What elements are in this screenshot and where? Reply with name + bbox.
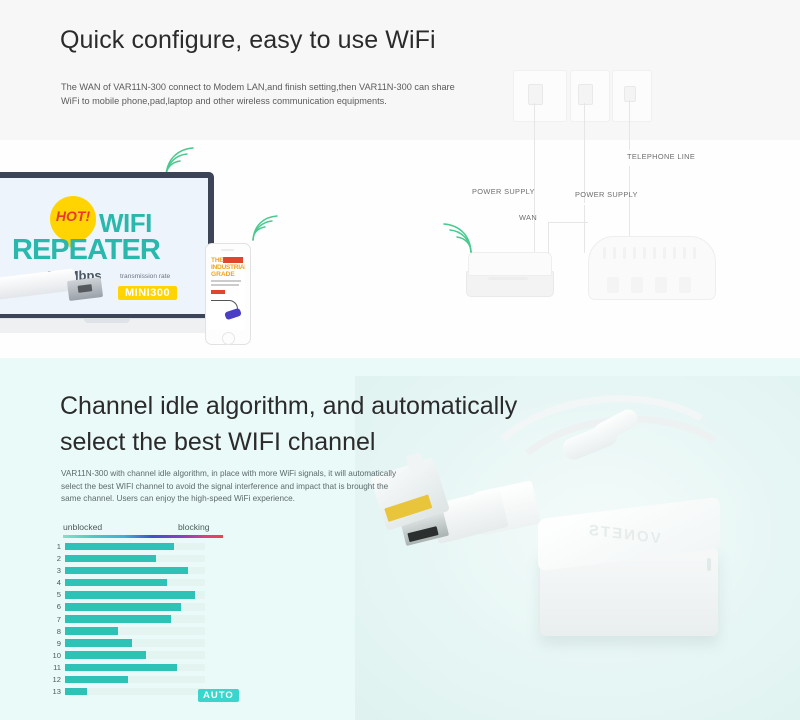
hot-badge-label: HOT! — [50, 208, 96, 224]
wire-power-2b — [584, 205, 585, 253]
telephone-jack-icon — [624, 86, 636, 102]
chart-bar — [65, 627, 118, 635]
chart-rows: 12345678910111213 — [48, 541, 260, 698]
power-socket-icon-2 — [578, 84, 593, 105]
smartphone-illustration: THE INDUSTRIAL GRADE — [205, 243, 251, 345]
chart-bar — [65, 591, 195, 599]
chart-row: 6 — [48, 601, 260, 613]
chart-row: 5 — [48, 589, 260, 601]
repeater-label-strip — [488, 277, 528, 280]
laptop-illustration: HOT! WIFI REPEATER 300Mbps transmission … — [0, 172, 220, 340]
laptop-base-notch — [84, 319, 130, 323]
wire-power-2 — [584, 103, 585, 203]
phone-ad-text-line-2 — [211, 284, 239, 286]
chart-bar — [65, 676, 128, 684]
wifi-signal-icon-phone — [248, 214, 278, 242]
chart-bar — [65, 579, 167, 587]
chart-bar-track — [65, 664, 205, 672]
chart-bar-track — [65, 579, 205, 587]
wire-telephone-b — [629, 166, 630, 244]
label-wan: WAN — [519, 213, 537, 222]
phone-ad-badge — [211, 290, 225, 294]
chart-channel-number: 4 — [48, 578, 61, 587]
section-channel-algorithm: VONETS Channel idle algorithm, and autom… — [0, 358, 800, 720]
chart-row: 4 — [48, 577, 260, 589]
chart-channel-number: 12 — [48, 675, 61, 684]
usb-dongle-body — [0, 268, 77, 302]
chart-bar-track — [65, 555, 205, 563]
section2-title: Channel idle algorithm, and automaticall… — [60, 388, 580, 460]
chart-channel-number: 1 — [48, 542, 61, 551]
chart-bar — [65, 639, 132, 647]
section1-title: Quick configure, easy to use WiFi — [60, 26, 436, 55]
chart-channel-number: 7 — [48, 615, 61, 624]
wire-telephone — [629, 100, 630, 150]
power-socket-icon — [528, 84, 543, 105]
chart-row: 3 — [48, 565, 260, 577]
chart-bar-track — [65, 639, 205, 647]
chart-bar-track — [65, 676, 205, 684]
chart-row: 12 — [48, 674, 260, 686]
chart-bar-track — [65, 651, 205, 659]
auto-channel-badge: AUTO — [198, 689, 239, 702]
laptop-screen: HOT! WIFI REPEATER 300Mbps transmission … — [0, 178, 208, 314]
chart-bar-track — [65, 567, 205, 575]
chart-row: 8 — [48, 626, 260, 638]
chart-legend-unblocked: unblocked — [63, 522, 102, 532]
chart-bar — [65, 543, 174, 551]
chart-channel-number: 8 — [48, 627, 61, 636]
chart-bar — [65, 555, 156, 563]
phone-ad-text-line-1 — [211, 280, 241, 282]
chart-row: 2 — [48, 553, 260, 565]
wire-wan-drop — [548, 222, 549, 254]
phone-ad-line1: THE — [211, 257, 224, 264]
phone-home-button — [222, 332, 235, 345]
router-led-indicator — [707, 558, 711, 571]
phone-ad-line3: GRADE — [211, 271, 235, 278]
chart-gradient-scale — [63, 535, 223, 538]
section1-body-text: The WAN of VAR11N-300 connect to Modem L… — [61, 80, 461, 108]
chart-bar — [65, 567, 188, 575]
usb-dongle-connector — [67, 277, 103, 301]
chart-row: 10 — [48, 650, 260, 662]
chart-bar-track — [65, 627, 205, 635]
section1-top-band — [0, 0, 800, 140]
chart-channel-number: 6 — [48, 602, 61, 611]
product-marketing-page: Quick configure, easy to use WiFi The WA… — [0, 0, 800, 720]
ad-model-badge: MINI300 — [118, 286, 177, 300]
ad-repeater-text: REPEATER — [12, 234, 160, 267]
chart-bar-track — [65, 603, 205, 611]
label-power-supply-1: POWER SUPPLY — [472, 187, 535, 196]
chart-bar — [65, 651, 146, 659]
phone-speaker — [221, 249, 234, 251]
modem-illustration — [588, 236, 716, 300]
channel-usage-chart: unblocked blocking 12345678910111213 AUT… — [48, 522, 260, 712]
section-quick-configure: Quick configure, easy to use WiFi The WA… — [0, 0, 800, 358]
chart-channel-number: 13 — [48, 687, 61, 696]
chart-bar-track — [65, 543, 205, 551]
section2-body-text: VAR11N-300 with channel idle algorithm, … — [61, 468, 401, 506]
label-telephone-line: TELEPHONE LINE — [627, 152, 695, 161]
phone-screen: THE INDUSTRIAL GRADE — [209, 254, 245, 330]
repeater-top — [468, 252, 552, 276]
phone-ad-line2: INDUSTRIAL — [211, 264, 245, 271]
chart-bar — [65, 615, 171, 623]
chart-channel-number: 2 — [48, 554, 61, 563]
chart-bar — [65, 688, 87, 696]
chart-bar — [65, 603, 181, 611]
chart-row: 11 — [48, 662, 260, 674]
chart-bar-track — [65, 688, 205, 696]
chart-channel-number: 10 — [48, 651, 61, 660]
wifi-signal-icon-repeater — [443, 222, 477, 254]
chart-bar — [65, 664, 177, 672]
repeater-device-illustration — [466, 252, 552, 296]
label-power-supply-2: POWER SUPPLY — [575, 190, 638, 199]
chart-row: 7 — [48, 614, 260, 626]
phone-ad-accent-bar — [223, 257, 243, 263]
chart-row: 1 — [48, 541, 260, 553]
chart-channel-number: 9 — [48, 639, 61, 648]
chart-channel-number: 5 — [48, 590, 61, 599]
chart-bar-track — [65, 591, 205, 599]
chart-bar-track — [65, 615, 205, 623]
chart-row: 9 — [48, 638, 260, 650]
wire-wan — [548, 222, 588, 223]
chart-channel-number: 3 — [48, 566, 61, 575]
chart-channel-number: 11 — [48, 663, 61, 672]
chart-legend-blocking: blocking — [178, 522, 210, 532]
ad-speed-subtext: transmission rate — [120, 273, 170, 280]
